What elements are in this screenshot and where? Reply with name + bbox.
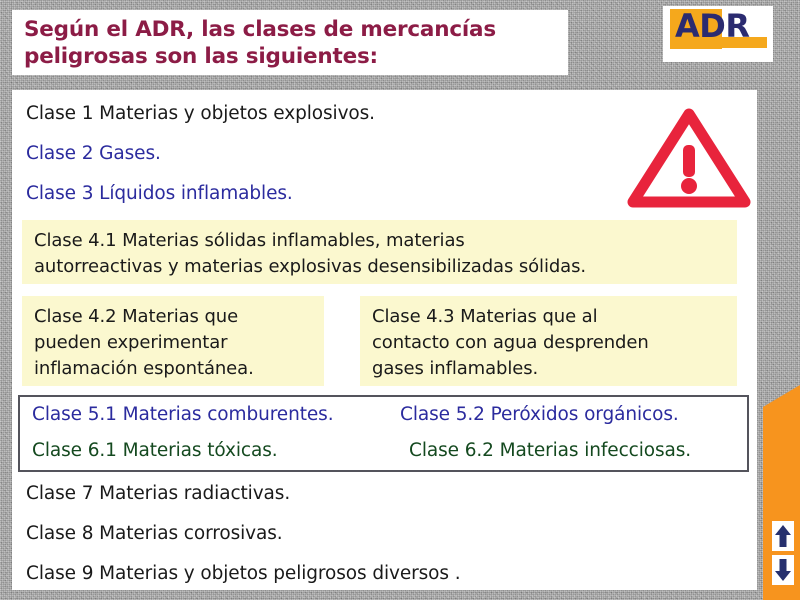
class-line-7: Clase 7 Materias radiactivas. — [26, 482, 290, 506]
class-4-2-line-1: Clase 4.2 Materias que — [34, 304, 314, 330]
class-4-3-line-1: Clase 4.3 Materias que al — [372, 304, 727, 330]
slide-title-line-1: Según el ADR, las clases de mercancías — [24, 16, 560, 43]
class-line-3: Clase 3 Líquidos inflamables. — [26, 182, 293, 206]
slide-title-line-2: peligrosas son las siguientes: — [24, 43, 560, 70]
arrow-down-icon — [774, 558, 792, 582]
class-line-1: Clase 1 Materias y objetos explosivos. — [26, 102, 375, 126]
warning-triangle-icon — [624, 102, 754, 212]
class-4-2-line-2: pueden experimentar — [34, 330, 314, 356]
class-line-6-1: Clase 6.1 Materias tóxicas. — [32, 439, 278, 463]
adr-logo-text: ADR — [675, 8, 749, 44]
adr-logo: ADR — [663, 6, 773, 62]
slide-canvas: Según el ADR, las clases de mercancías p… — [0, 0, 800, 600]
class-box-4-1: Clase 4.1 Materias sólidas inflamables, … — [22, 220, 737, 284]
next-slide-button[interactable] — [772, 555, 794, 585]
arrow-up-icon — [774, 524, 792, 548]
class-line-5-2: Clase 5.2 Peróxidos orgánicos. — [400, 403, 679, 427]
class-box-4-3: Clase 4.3 Materias que al contacto con a… — [360, 296, 737, 386]
content-panel: Clase 1 Materias y objetos explosivos. C… — [12, 90, 757, 590]
class-line-2: Clase 2 Gases. — [26, 142, 161, 166]
class-box-5-and-6: Clase 5.1 Materias comburentes. Clase 5.… — [18, 395, 749, 472]
class-4-2-line-3: inflamación espontánea. — [34, 356, 314, 382]
class-line-9: Clase 9 Materias y objetos peligrosos di… — [26, 562, 461, 586]
class-line-5-1: Clase 5.1 Materias comburentes. — [32, 403, 333, 427]
previous-slide-button[interactable] — [772, 521, 794, 551]
class-line-6-2: Clase 6.2 Materias infecciosas. — [409, 439, 691, 463]
class-line-8: Clase 8 Materias corrosivas. — [26, 522, 283, 546]
class-4-3-line-2: contacto con agua desprenden — [372, 330, 727, 356]
class-4-1-line-2: autorreactivas y materias explosivas des… — [34, 254, 727, 280]
class-box-4-2: Clase 4.2 Materias que pueden experiment… — [22, 296, 324, 386]
slide-title-banner: Según el ADR, las clases de mercancías p… — [12, 10, 568, 75]
class-4-1-line-1: Clase 4.1 Materias sólidas inflamables, … — [34, 228, 727, 254]
class-4-3-line-3: gases inflamables. — [372, 356, 727, 382]
